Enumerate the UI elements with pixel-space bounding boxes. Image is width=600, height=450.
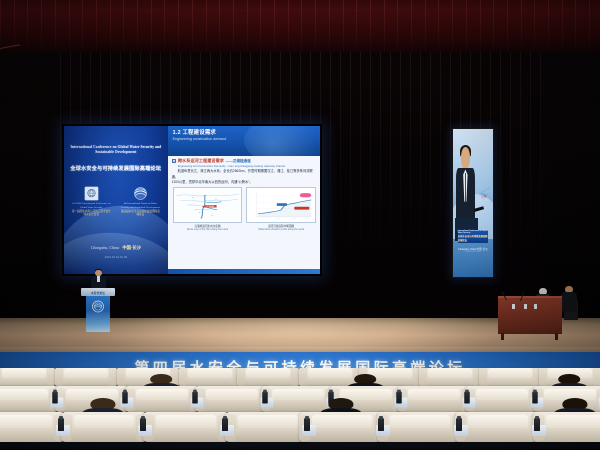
seat-arm-left	[179, 368, 187, 387]
panelist-seated-right	[560, 286, 578, 312]
seat-cushion	[0, 389, 48, 400]
curtain-fold	[330, 52, 331, 352]
floor-cable	[0, 44, 22, 56]
red-curtain	[0, 0, 600, 58]
slide-body: 跨水系运河工程建设需求 ——汉湘桂通道 Engineering and Cons…	[168, 156, 320, 185]
slide-paragraph-1: 航道纵贯长江、珠江两大水系，全长约2562km，开凿时期需要汉江、湘江、桂江等多…	[172, 169, 316, 180]
seat-cushion	[246, 368, 289, 378]
table-leg-right	[555, 333, 558, 340]
cover-place-cn: 中国·长沙	[122, 245, 141, 250]
curtain-fold	[96, 0, 97, 58]
seat-arm-right	[593, 368, 600, 387]
curtain-fold	[69, 0, 70, 58]
curtain-fold	[425, 0, 426, 58]
bullet-heading: 跨水系运河工程建设需求 ——汉湘桂通道	[172, 158, 316, 164]
slide-content: International Conference on Global Water…	[64, 126, 320, 274]
thermos-flask	[464, 392, 470, 404]
seat-cushion	[188, 368, 231, 378]
seat-arm-left	[419, 368, 427, 387]
curtain-fold	[137, 0, 138, 58]
table-microphone-1	[501, 291, 507, 300]
cover-date: 2023.10.24-10.26	[64, 255, 168, 259]
backdrop-right	[542, 52, 600, 320]
figure-caption-1: 汉湘桂运河走向示意图 Route map of the Han-Xiang-Gu…	[173, 224, 243, 231]
thermos-flask	[262, 392, 268, 404]
fig1-caption-en: Route map of the Han-Xiang-Gui canal	[173, 228, 243, 231]
audience-seat	[180, 368, 240, 388]
curtain-fold	[233, 0, 234, 58]
panelist-right-body	[561, 292, 578, 312]
slide-header: 1.2 工程建设需求 Engineering construction dema…	[168, 126, 320, 156]
curtain-fold	[575, 0, 576, 58]
seat-arm-left	[539, 368, 547, 387]
podium-label: 水安全论坛	[81, 291, 115, 295]
book-icon	[172, 159, 177, 162]
curtain-fold	[548, 0, 549, 58]
audience-seat	[62, 412, 146, 442]
bullet-title-cn: 跨水系运河工程建设需求	[178, 158, 224, 164]
main-presentation-screen: International Conference on Global Water…	[62, 124, 322, 276]
curtain-fold	[450, 52, 451, 352]
seat-arm-right	[47, 368, 55, 387]
curtain-fold	[123, 0, 124, 58]
speaker-head	[461, 147, 471, 170]
water-cup-2	[524, 304, 527, 309]
header-glow	[244, 126, 320, 156]
curtain-fold	[589, 0, 590, 58]
audience-seat	[0, 386, 58, 412]
curtain-fold	[380, 52, 381, 352]
thermos-flask	[532, 392, 538, 404]
curtain-fold	[384, 0, 385, 58]
seat-cushion	[2, 368, 45, 378]
water-cup-3	[534, 304, 537, 309]
audience-seat	[378, 412, 462, 442]
audience-area	[0, 368, 600, 450]
seat-cushion	[312, 415, 372, 428]
podium-top: 水安全论坛	[81, 288, 115, 296]
slide-footer-bar	[168, 269, 320, 274]
audience-seat	[0, 368, 54, 388]
logo-caption-en-1: 1st IWSE International Conference on Glo…	[71, 202, 111, 209]
thermos-flask	[52, 392, 58, 404]
thermos-flask	[378, 418, 384, 431]
slide-figures: 汉湘桂	[173, 187, 316, 223]
bullet-title-en: Engineering and Construction Demands – H…	[178, 165, 316, 168]
seat-cushion	[546, 415, 600, 428]
curtain-fold	[27, 0, 28, 58]
audience-seat	[238, 368, 298, 388]
seat-cushion	[390, 415, 450, 428]
thermos-flask	[396, 392, 402, 404]
curtain-fold	[420, 52, 421, 352]
seat-arm-left	[117, 368, 125, 387]
logo-caption-cn-2: 第四届水安全与可持续发展国际高端论坛	[120, 210, 160, 217]
curtain-fold	[350, 52, 351, 352]
curtain-fold	[438, 0, 439, 58]
curtain-fold	[301, 0, 302, 58]
curtain-fold	[410, 52, 411, 352]
audience-seat	[56, 368, 116, 388]
curtain-fold	[370, 52, 371, 352]
curtain-fold	[440, 52, 441, 352]
backdrop-left	[0, 52, 58, 320]
monitor-title-strip: International Conference on Global Water…	[458, 230, 488, 243]
audience-seat	[420, 368, 480, 388]
seat-cushion	[64, 368, 107, 378]
curtain-fold	[247, 0, 248, 58]
audience-seat	[480, 368, 540, 388]
curtain-fold	[562, 0, 563, 58]
monitor-strip-cn: 全球水安全与可持续发展国际高端论坛	[458, 234, 488, 242]
seat-cushion	[238, 415, 298, 428]
curtain-fold	[430, 52, 431, 352]
thermos-flask	[222, 418, 228, 431]
speaker-at-podium	[89, 270, 108, 290]
logo-caption-cn-1: 第一届国际水利与环境工程学会全球水安全会议	[71, 210, 111, 217]
curtain-fold	[466, 0, 467, 58]
seat-arm-right	[109, 368, 117, 387]
seat-cushion	[0, 415, 52, 428]
audience-seat	[196, 386, 268, 412]
curtain-fold	[493, 0, 494, 58]
curtain-fold	[507, 0, 508, 58]
seat-arm-right	[291, 368, 299, 387]
fig2-caption-en: Watershed elevation profile along the ca…	[246, 228, 316, 231]
figure-captions: 汉湘桂运河走向示意图 Route map of the Han-Xiang-Gu…	[173, 224, 316, 231]
seat-cushion	[156, 415, 216, 428]
thermos-flask	[122, 392, 128, 404]
logo-cell-forum: 4th International Forum on Water Securit…	[120, 186, 160, 217]
curtain-fold	[343, 0, 344, 58]
seat-arm-left	[55, 368, 63, 387]
speaker-podium: 水安全论坛	[84, 288, 112, 334]
seat-cushion	[74, 415, 134, 428]
seat-cushion	[488, 368, 531, 378]
curtain-fold	[192, 0, 193, 58]
curtain-fold	[178, 0, 179, 58]
audience-seat	[398, 386, 470, 412]
audience-seat	[126, 386, 198, 412]
curtain-fold	[411, 0, 412, 58]
river-map-graphic: 汉湘桂	[174, 188, 242, 222]
curtain-fold	[329, 0, 330, 58]
water-cup-1	[512, 304, 515, 309]
logo-cell-conference: 1st IWSE International Conference on Glo…	[71, 186, 111, 217]
panel-table-group	[498, 282, 584, 336]
thermos-flask	[534, 418, 540, 431]
curtain-fold	[206, 0, 207, 58]
audience-seat	[0, 412, 64, 442]
slide-paragraph-2: 1200公里，贯穿华北华南大以西的运河，沟通“公跨水”。	[172, 180, 316, 185]
curtain-fold	[274, 0, 275, 58]
curtain-fold	[534, 0, 535, 58]
thermos-flask	[456, 418, 462, 431]
seat-cushion	[136, 389, 188, 400]
table-leg-left	[501, 333, 504, 340]
table-microphone-2	[520, 292, 525, 302]
podium-speaker-shirt	[97, 276, 101, 282]
seat-arm-left	[479, 368, 487, 387]
cover-chinese-title: 全球水安全与可持续发展国际高端论坛	[68, 165, 163, 172]
slide-content-panel: 1.2 工程建设需求 Engineering construction dema…	[168, 126, 320, 274]
curtain-fold	[41, 0, 42, 58]
thermos-flask	[58, 418, 64, 431]
seat-cushion	[468, 415, 528, 428]
curtain-fold	[315, 0, 316, 58]
curtain-fold	[452, 0, 453, 58]
speaker-tie	[465, 173, 466, 201]
curtain-fold	[260, 0, 261, 58]
elevation-profile-chart: 080016002400	[246, 187, 316, 223]
curtain-fold	[390, 52, 391, 352]
conference-hall-scene: International Conference on Global Water…	[0, 0, 600, 450]
seat-cushion	[308, 368, 351, 378]
thermos-flask	[140, 418, 146, 431]
curtain-fold	[400, 52, 401, 352]
curtain-fold	[164, 0, 165, 58]
seat-cushion	[206, 389, 258, 400]
monitor-date: 2023.10.24-10.26	[453, 251, 493, 253]
curtain-fold	[82, 0, 83, 58]
swirl-wave-icon	[133, 186, 148, 201]
cover-place-en: Changsha, China	[91, 245, 120, 250]
curtain-fold	[360, 52, 361, 352]
live-camera-monitor: International Conference on Global Water…	[452, 128, 494, 278]
seat-arm-left	[0, 368, 1, 387]
seat-cushion	[476, 389, 528, 400]
curtain-fold	[480, 0, 481, 58]
curtain-fold	[397, 0, 398, 58]
cover-logo-row: 1st IWSE International Conference on Glo…	[71, 186, 160, 217]
audience-seat	[144, 412, 228, 442]
audience-seat	[466, 386, 538, 412]
curtain-fold	[55, 0, 56, 58]
monitor-screen: International Conference on Global Water…	[453, 129, 493, 277]
cover-english-title: International Conference on Global Water…	[70, 145, 161, 155]
logo-caption-en-2: 4th International Forum on Water Securit…	[120, 202, 160, 209]
bullet-title-suffix: ——汉湘桂通道	[226, 159, 251, 164]
seat-cushion	[408, 389, 460, 400]
monitor-place-block: Changsha, China 中国·长沙 2023.10.24-10.26	[453, 247, 493, 253]
curtain-fold	[219, 0, 220, 58]
curtain-fold	[370, 0, 371, 58]
thermos-flask	[192, 392, 198, 404]
thermos-flask	[304, 418, 310, 431]
globe-water-icon	[84, 186, 99, 201]
audience-seat	[226, 412, 310, 442]
curtain-fold	[356, 0, 357, 58]
river-network-map: 汉湘桂	[173, 187, 243, 223]
seat-arm-left	[299, 368, 307, 387]
curtain-fold	[340, 52, 341, 352]
conference-emblem-icon	[92, 300, 105, 313]
seat-cushion	[428, 368, 471, 378]
seat-arm-left	[237, 368, 245, 387]
curtain-fold	[521, 0, 522, 58]
seat-cushion	[272, 389, 324, 400]
curtain-fold	[288, 0, 289, 58]
curtain-fold	[110, 0, 111, 58]
profile-graphic: 080016002400	[247, 188, 315, 222]
audience-seat	[456, 412, 540, 442]
cover-place-block: Changsha, China中国·长沙 2023.10.24-10.26	[64, 236, 168, 259]
slide-cover-panel: International Conference on Global Water…	[64, 126, 168, 274]
panel-table	[498, 296, 562, 334]
figure-caption-2: 运河沿线高程纵断面图 Watershed elevation profile a…	[246, 224, 316, 231]
curtain-fold	[151, 0, 152, 58]
curtain-fold	[60, 52, 61, 352]
